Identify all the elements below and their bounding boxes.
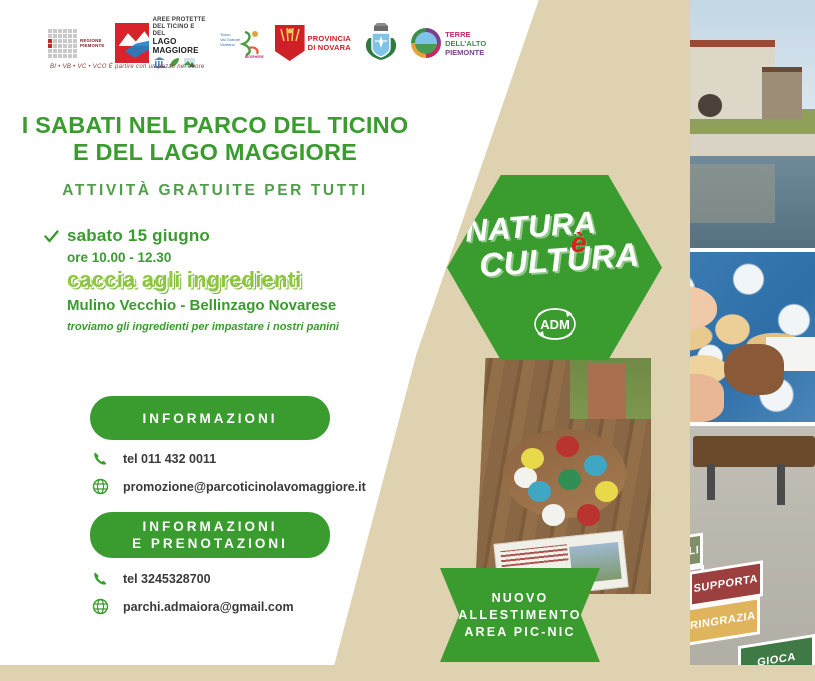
phone-icon bbox=[92, 570, 109, 587]
contact-email-1[interactable]: promozione@parcoticinolavomaggiore.it bbox=[92, 478, 366, 495]
flyer-text-block bbox=[500, 544, 568, 567]
bio-tag: BIOSPHERE bbox=[245, 55, 264, 58]
aree-line3: LAGO MAGGIORE bbox=[153, 37, 199, 55]
painted-stone bbox=[542, 504, 565, 525]
event-date-row: sabato 15 giugno bbox=[44, 226, 424, 246]
bench-leg bbox=[707, 464, 716, 500]
terre-circle-icon bbox=[411, 28, 441, 58]
aree-protette-text: AREE PROTETTE DEL TICINO E DEL LAGO MAGG… bbox=[153, 17, 209, 69]
terre-text: TERRE DELL'ALTO PIEMONTE bbox=[445, 30, 486, 57]
picnic-line-3: AREA PIC-NIC bbox=[458, 624, 581, 641]
biosphere-swirl-icon: Ticino Val Grande Verbano BIOSPHERE bbox=[219, 28, 265, 58]
painted-stone bbox=[595, 481, 618, 502]
informazioni-prenotazioni-button[interactable]: INFORMAZIONI E PRENOTAZIONI bbox=[90, 512, 330, 558]
regione-line2: PIEMONTE bbox=[80, 43, 105, 48]
provincia-text: PROVINCIA DI NOVARA bbox=[308, 34, 351, 52]
terre-line1: TERRE bbox=[445, 30, 486, 39]
left-content-panel: REGIONE PIEMONTE AREE PROTETTE DEL TICIN… bbox=[0, 0, 430, 681]
painted-stones-table-photo bbox=[475, 358, 651, 594]
logo-biosfera-ticino: Ticino Val Grande Verbano BIOSPHERE bbox=[219, 28, 265, 58]
event-date: sabato 15 giugno bbox=[67, 226, 210, 246]
contact-phone-2[interactable]: tel 3245328700 bbox=[92, 570, 211, 587]
water-wheel bbox=[698, 94, 722, 116]
page-subtitle: ATTIVITÀ GRATUITE PER TUTTI bbox=[0, 182, 430, 200]
contact-phone-2-text: tel 3245328700 bbox=[123, 572, 211, 586]
prenotazioni-line-1: INFORMAZIONI bbox=[132, 518, 288, 535]
event-place: Mulino Vecchio - Bellinzago Novarese bbox=[67, 297, 424, 314]
brick-pillar bbox=[588, 363, 627, 420]
page-title: I SABATI NEL PARCO DEL TICINO E DEL LAGO… bbox=[0, 112, 430, 166]
aree-line1: AREE PROTETTE bbox=[153, 17, 209, 24]
phone-icon bbox=[92, 450, 109, 467]
contact-phone-1[interactable]: tel 011 432 0011 bbox=[92, 450, 216, 467]
prenotazioni-line-2: E PRENOTAZIONI bbox=[132, 535, 288, 552]
check-icon bbox=[44, 229, 59, 244]
logo-regione-piemonte: REGIONE PIEMONTE bbox=[48, 29, 105, 58]
svg-text:ADM: ADM bbox=[540, 317, 570, 332]
logo-subline: BI • VB • VC • VCO È partire con un pezz… bbox=[50, 64, 205, 70]
painted-stone bbox=[528, 481, 551, 502]
logo-terre-alto-piemonte: TERRE DELL'ALTO PIEMONTE bbox=[411, 28, 486, 58]
contact-email-1-text: promozione@parcoticinolavomaggiore.it bbox=[123, 480, 366, 494]
painted-stone bbox=[558, 469, 581, 490]
logo-aree-protette: AREE PROTETTE DEL TICINO E DEL LAGO MAGG… bbox=[115, 17, 209, 69]
regione-logo-text: REGIONE PIEMONTE bbox=[80, 38, 105, 48]
logo-provincia-novara: PROVINCIA DI NOVARA bbox=[275, 25, 351, 61]
poster-root: RACCOGLI SUPPORTA SUPPORTA RINGRAZIA GIO… bbox=[0, 0, 815, 681]
provincia-shield-icon bbox=[275, 25, 305, 61]
provincia-line1: PROVINCIA bbox=[308, 34, 351, 43]
globe-icon bbox=[92, 478, 109, 495]
title-line-1: I SABATI NEL PARCO DEL TICINO bbox=[0, 112, 430, 139]
painted-stone bbox=[521, 448, 544, 469]
aree-line2: DEL TICINO E DEL bbox=[153, 24, 209, 38]
event-note: troviamo gli ingredienti per impastare i… bbox=[67, 321, 424, 333]
contact-email-2[interactable]: parchi.admaiora@gmail.com bbox=[92, 598, 294, 615]
event-time: ore 10.00 - 12.30 bbox=[67, 250, 424, 265]
painted-stone bbox=[577, 504, 600, 525]
aree-protette-mark-icon bbox=[115, 23, 149, 63]
event-details: sabato 15 giugno ore 10.00 - 12.30 cacci… bbox=[44, 226, 424, 333]
painted-stone bbox=[556, 436, 579, 457]
terre-line2: DELL'ALTO bbox=[445, 39, 486, 48]
hexagon-accent-e: è bbox=[571, 227, 587, 259]
bench-leg bbox=[777, 464, 786, 505]
informazioni-button[interactable]: INFORMAZIONI bbox=[90, 396, 330, 440]
bio-l3: Verbano bbox=[220, 42, 236, 47]
comune-crest-icon bbox=[361, 22, 401, 64]
wooden-bench bbox=[693, 436, 815, 467]
adm-logo: ADM bbox=[530, 303, 580, 345]
regione-grid-icon bbox=[48, 29, 77, 58]
contact-phone-1-text: tel 011 432 0011 bbox=[123, 452, 216, 466]
terre-line3: PIEMONTE bbox=[445, 48, 486, 57]
picnic-line-1: NUOVO bbox=[458, 590, 581, 607]
painted-stone bbox=[584, 455, 607, 476]
event-activity: caccia agli ingredienti bbox=[67, 267, 424, 293]
title-line-2: E DEL LAGO MAGGIORE bbox=[0, 139, 430, 166]
adult-hand bbox=[724, 344, 784, 395]
picnic-area-banner: NUOVO ALLESTIMENTO AREA PIC-NIC bbox=[440, 568, 600, 662]
logo-comune-bellinzago bbox=[361, 22, 401, 64]
picnic-line-2: ALLESTIMENTO bbox=[458, 607, 581, 624]
mill-porch bbox=[762, 67, 802, 119]
contact-email-2-text: parchi.admaiora@gmail.com bbox=[123, 600, 294, 614]
provincia-line2: DI NOVARA bbox=[308, 43, 351, 52]
globe-icon bbox=[92, 598, 109, 615]
